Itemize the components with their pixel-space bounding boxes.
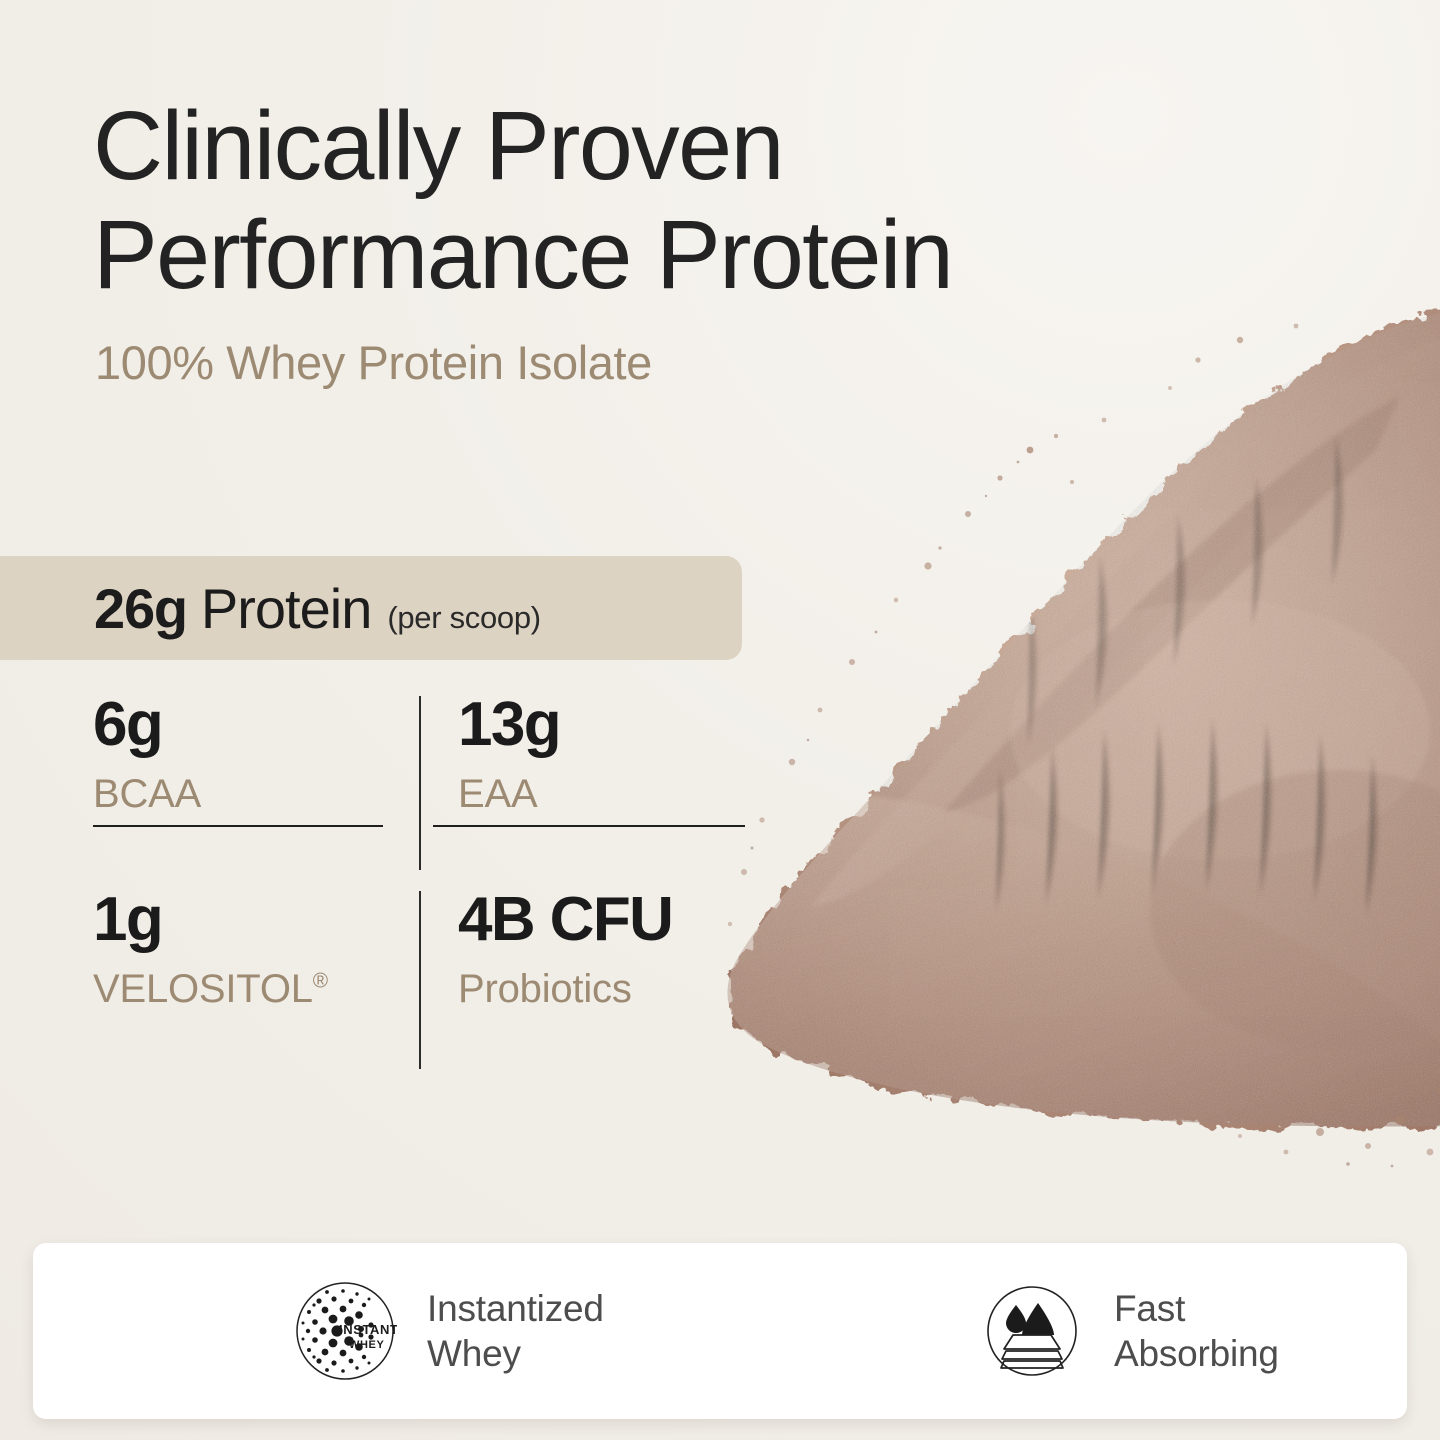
product-feature-graphic: Clinically Proven Performance Protein 10… bbox=[0, 0, 1440, 1440]
feature-instantized-whey: INSTANT WHEY Instantized Whey bbox=[33, 1279, 720, 1383]
stat-label-probiotics: Probiotics bbox=[458, 964, 745, 1014]
stat-label-bcaa: BCAA bbox=[93, 769, 419, 819]
feature-badges-card: INSTANT WHEY Instantized Whey bbox=[33, 1243, 1407, 1419]
stat-label-velositol-text: VELOSITOL bbox=[93, 967, 313, 1011]
protein-powder-image bbox=[700, 300, 1440, 1180]
page-title: Clinically Proven Performance Protein bbox=[93, 92, 1213, 309]
headline-line-2: Performance Protein bbox=[93, 201, 1213, 310]
svg-text:WHEY: WHEY bbox=[349, 1339, 384, 1351]
protein-highlight-content: 26g Protein (per scoop) bbox=[94, 576, 541, 641]
feature-fast-absorbing: Fast Absorbing bbox=[720, 1279, 1407, 1383]
protein-amount: 26g bbox=[94, 576, 187, 641]
headline-line-1: Clinically Proven bbox=[93, 92, 1213, 201]
feature-label-line-1: Fast bbox=[1114, 1286, 1279, 1331]
fast-absorbing-droplet-icon bbox=[980, 1279, 1084, 1383]
stats-divider-left bbox=[93, 825, 383, 827]
stats-divider-right bbox=[433, 825, 745, 827]
stat-label-eaa: EAA bbox=[458, 769, 745, 819]
stat-value-probiotics: 4B CFU bbox=[458, 889, 745, 951]
stats-vertical-divider-top bbox=[419, 696, 421, 870]
feature-label-instantized-whey: Instantized Whey bbox=[427, 1286, 604, 1376]
feature-label-fast-absorbing: Fast Absorbing bbox=[1114, 1286, 1279, 1376]
stat-cell-eaa: 13g EAA bbox=[419, 694, 745, 825]
protein-label: Protein bbox=[201, 576, 371, 641]
stats-row-top: 6g BCAA 13g EAA bbox=[93, 694, 745, 825]
instant-whey-badge-icon: INSTANT WHEY bbox=[293, 1279, 397, 1383]
svg-text:INSTANT: INSTANT bbox=[339, 1322, 397, 1337]
feature-label-line-2: Absorbing bbox=[1114, 1331, 1279, 1376]
stat-cell-velositol: 1g VELOSITOL® bbox=[93, 889, 419, 1020]
stat-label-velositol: VELOSITOL® bbox=[93, 964, 419, 1014]
page-subtitle: 100% Whey Protein Isolate bbox=[95, 335, 652, 390]
stats-row-bottom: 1g VELOSITOL® 4B CFU Probiotics bbox=[93, 889, 745, 1020]
feature-label-line-1: Instantized bbox=[427, 1286, 604, 1331]
stat-value-eaa: 13g bbox=[458, 694, 745, 756]
registered-trademark-icon: ® bbox=[313, 970, 328, 993]
stat-value-velositol: 1g bbox=[93, 889, 419, 951]
stat-cell-bcaa: 6g BCAA bbox=[93, 694, 419, 825]
stat-cell-probiotics: 4B CFU Probiotics bbox=[419, 889, 745, 1020]
nutrition-stats-grid: 6g BCAA 13g EAA 1g VELOSITOL® 4B CFU Pro… bbox=[93, 694, 745, 1020]
protein-serving-note: (per scoop) bbox=[387, 600, 541, 636]
stat-value-bcaa: 6g bbox=[93, 694, 419, 756]
feature-label-line-2: Whey bbox=[427, 1331, 604, 1376]
stats-vertical-divider-bottom bbox=[419, 891, 421, 1069]
protein-highlight-banner: 26g Protein (per scoop) bbox=[0, 556, 742, 660]
